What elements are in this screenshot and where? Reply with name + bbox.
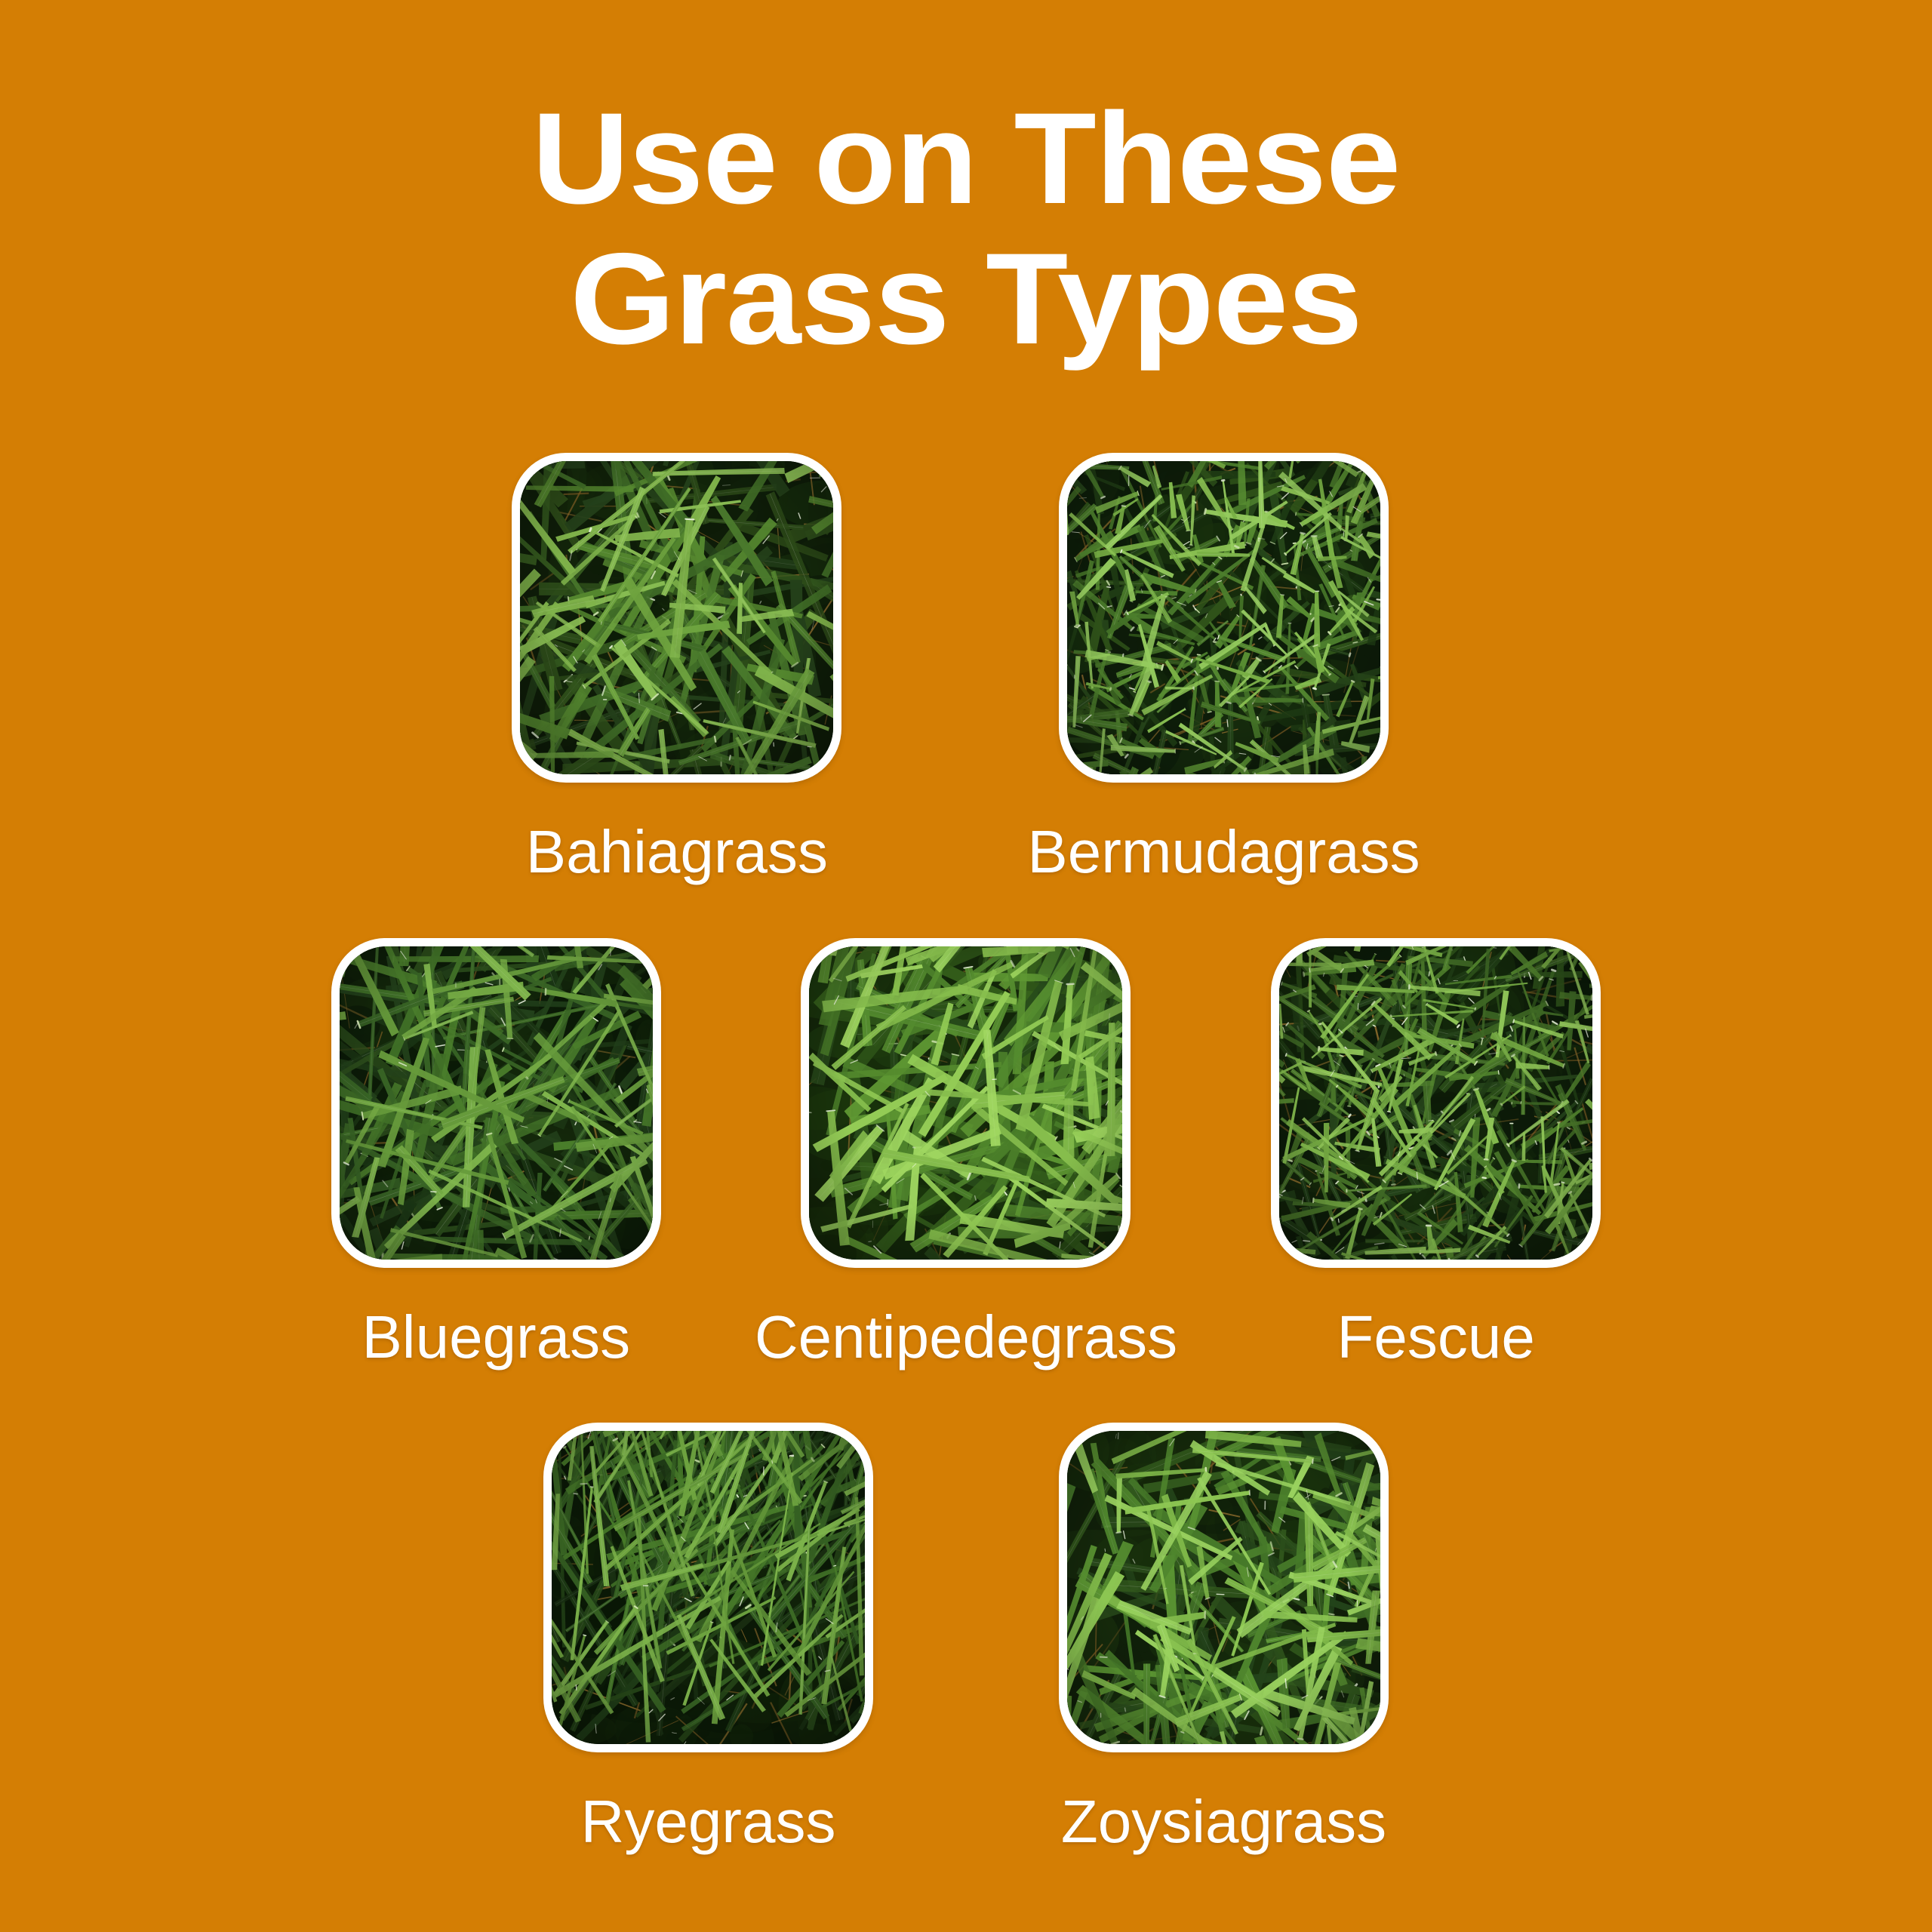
grass-card: Bermudagrass	[1027, 453, 1420, 882]
grass-row-1: Bahiagrass Bermudagrass	[0, 453, 1932, 882]
grass-card: Ryegrass	[543, 1423, 873, 1852]
grass-image-tile	[1059, 1423, 1389, 1752]
grass-row-2: Bluegrass Centipedegrass Fescue	[0, 938, 1932, 1367]
grass-image-tile	[1271, 938, 1601, 1268]
grass-photo-bluegrass	[340, 946, 653, 1260]
grass-card: Bluegrass	[331, 938, 661, 1367]
grass-label: Ryegrass	[581, 1792, 836, 1852]
grass-card: Centipedegrass	[755, 938, 1177, 1367]
grass-image-tile	[543, 1423, 873, 1752]
grass-card: Bahiagrass	[512, 453, 841, 882]
grass-card: Fescue	[1271, 938, 1601, 1367]
grass-photo-centipedegrass	[809, 946, 1122, 1260]
grass-card: Zoysiagrass	[1059, 1423, 1389, 1852]
grass-label: Fescue	[1337, 1307, 1535, 1367]
grass-image-tile	[1059, 453, 1389, 783]
grass-image-tile	[801, 938, 1131, 1268]
grass-row-3: Ryegrass Zoysiagrass	[0, 1423, 1932, 1852]
grass-label: Zoysiagrass	[1061, 1792, 1386, 1852]
grass-label: Bermudagrass	[1027, 822, 1420, 882]
grass-photo-zoysiagrass	[1067, 1431, 1380, 1744]
grass-photo-ryegrass	[552, 1431, 865, 1744]
grass-photo-fescue	[1279, 946, 1592, 1260]
grass-image-tile	[512, 453, 841, 783]
grass-photo-bermudagrass	[1067, 461, 1380, 774]
grass-photo-bahiagrass	[520, 461, 833, 774]
grass-label: Centipedegrass	[755, 1307, 1177, 1367]
grass-label: Bahiagrass	[526, 822, 828, 882]
grass-type-grid: Bahiagrass Bermudagrass Bluegrass Ce	[0, 0, 1932, 1932]
grass-label: Bluegrass	[361, 1307, 630, 1367]
infographic-page: Use on These Grass Types Bahiagrass Berm…	[0, 0, 1932, 1932]
grass-image-tile	[331, 938, 661, 1268]
